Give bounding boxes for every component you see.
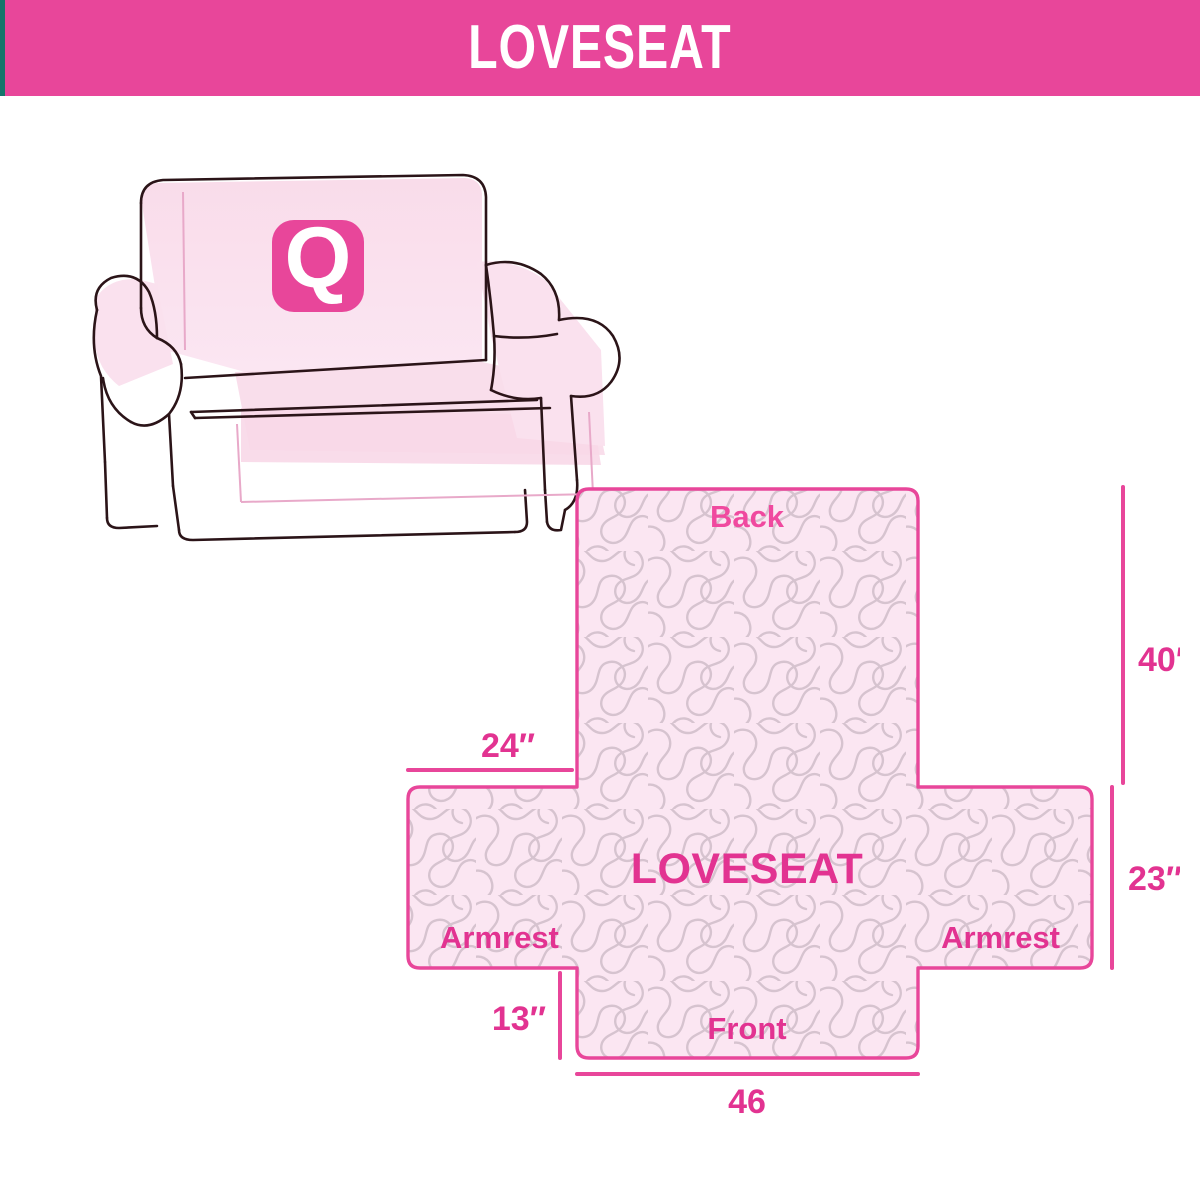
panel-label-front: Front <box>707 1011 786 1046</box>
panel-label-armrest-right: Armrest <box>941 920 1060 955</box>
header-accent-stripe <box>0 0 5 96</box>
product-dimension-card: LOVESEAT <box>0 0 1200 1200</box>
dimension-back-height: 40″ <box>1123 487 1180 783</box>
dimension-front-width-label: 46 <box>728 1083 766 1121</box>
slipcover-flat-pattern: Back LOVESEAT Armrest Armrest Front 40″ … <box>390 465 1180 1145</box>
dimension-armrest-width-label: 24″ <box>481 727 535 765</box>
dimension-back-height-label: 40″ <box>1138 641 1180 679</box>
panel-label-back: Back <box>710 499 785 534</box>
dimension-front-height-label: 13″ <box>492 1000 546 1038</box>
dimension-front-height: 13″ <box>492 973 560 1058</box>
dimension-front-width: 46 <box>577 1074 918 1121</box>
dimension-armrest-width: 24″ <box>408 727 572 770</box>
panel-label-armrest-left: Armrest <box>440 920 559 955</box>
dimension-armrest-height: 23″ <box>1112 787 1180 968</box>
page-title: LOVESEAT <box>468 17 731 79</box>
panel-label-center: LOVESEAT <box>631 845 864 893</box>
header-banner: LOVESEAT <box>0 0 1200 96</box>
brand-logo-letter: Q <box>285 210 352 306</box>
cover-shape <box>408 489 1092 1058</box>
dimension-armrest-height-label: 23″ <box>1128 860 1180 898</box>
brand-logo: Q <box>272 210 364 312</box>
